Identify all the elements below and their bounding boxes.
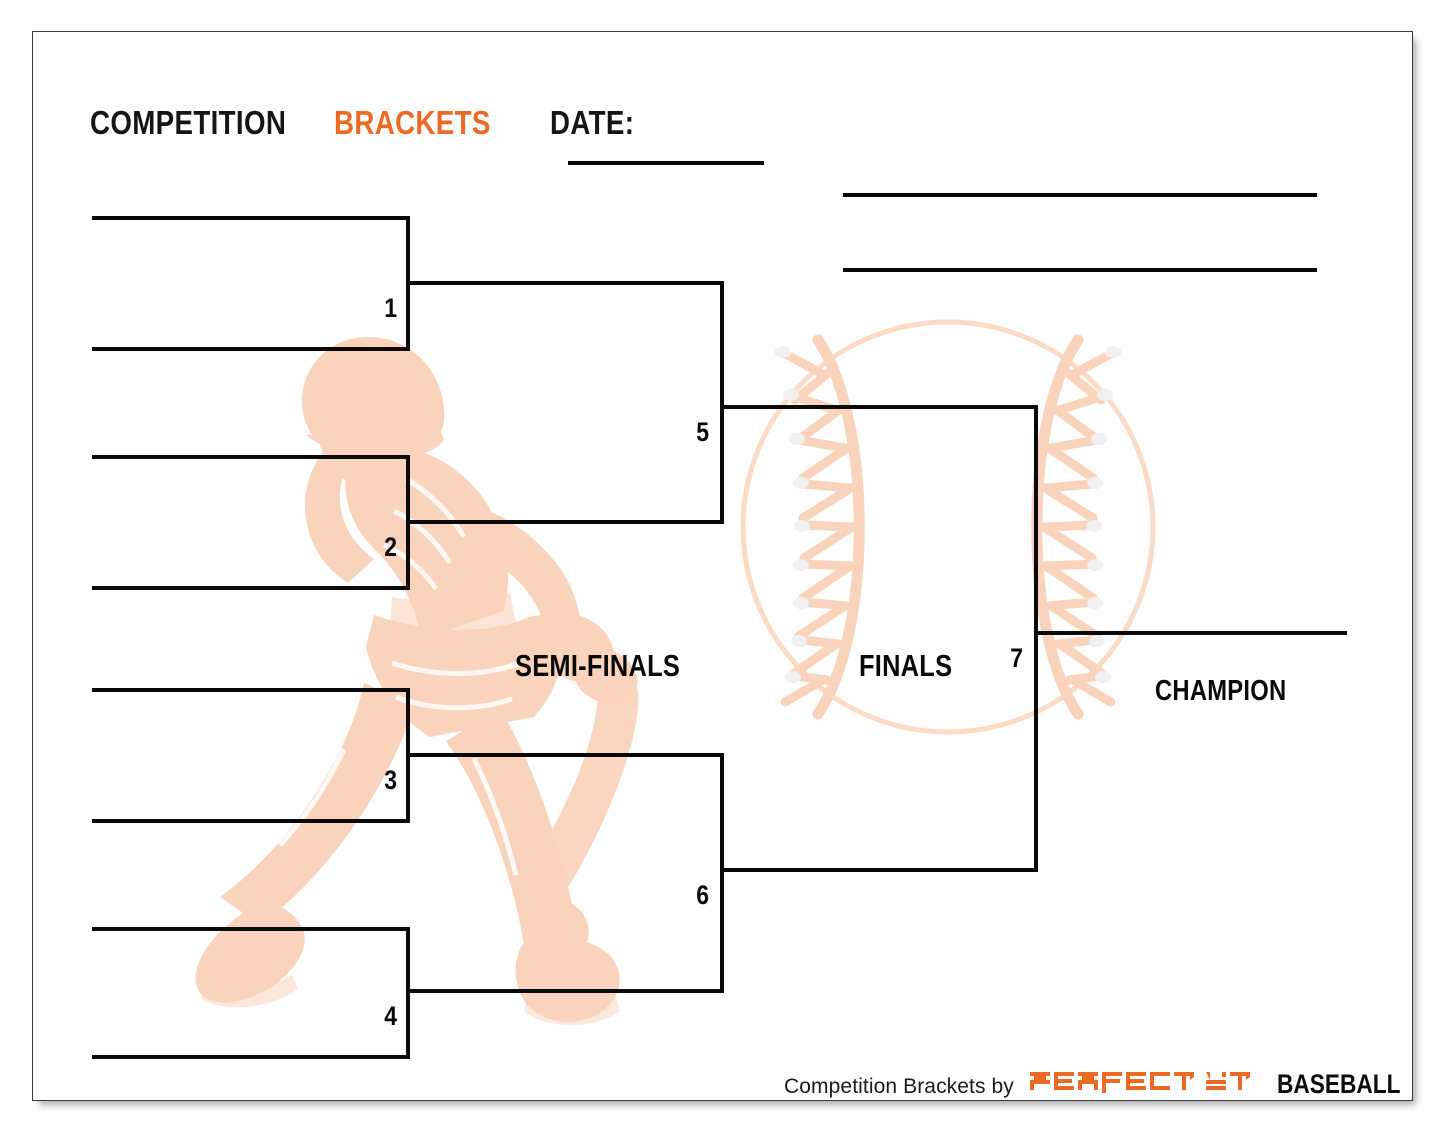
- footer: Competition Brackets by: [784, 1069, 1413, 1100]
- match-number-7: 7: [1003, 645, 1023, 672]
- page-root: COMPETITION BRACKETS DATE: 1 2 3 4 5 6 7…: [0, 0, 1445, 1131]
- stage-label-semifinals: SEMI-FINALS: [515, 650, 680, 681]
- match-number-4: 4: [377, 1003, 397, 1030]
- stage-label-finals: FINALS: [859, 650, 952, 681]
- bracket-sheet: COMPETITION BRACKETS DATE: 1 2 3 4 5 6 7…: [32, 31, 1413, 1101]
- footer-credit-text: Competition Brackets by: [784, 1075, 1014, 1099]
- match-number-5: 5: [689, 419, 709, 446]
- date-label: DATE:: [550, 106, 634, 139]
- match-number-2: 2: [377, 534, 397, 561]
- match-number-6: 6: [689, 882, 709, 909]
- stage-label-champion: CHAMPION: [1155, 677, 1286, 706]
- title-word-brackets: BRACKETS: [334, 106, 491, 139]
- perfect-strike-logo: [1030, 1069, 1266, 1093]
- text-layer: COMPETITION BRACKETS DATE: 1 2 3 4 5 6 7…: [33, 32, 1412, 1100]
- match-number-3: 3: [377, 767, 397, 794]
- title-word-competition: COMPETITION: [90, 106, 286, 139]
- page-title: COMPETITION BRACKETS DATE:: [90, 106, 651, 139]
- match-number-1: 1: [377, 295, 397, 322]
- brand-baseball-text: BASEBALL: [1277, 1069, 1400, 1100]
